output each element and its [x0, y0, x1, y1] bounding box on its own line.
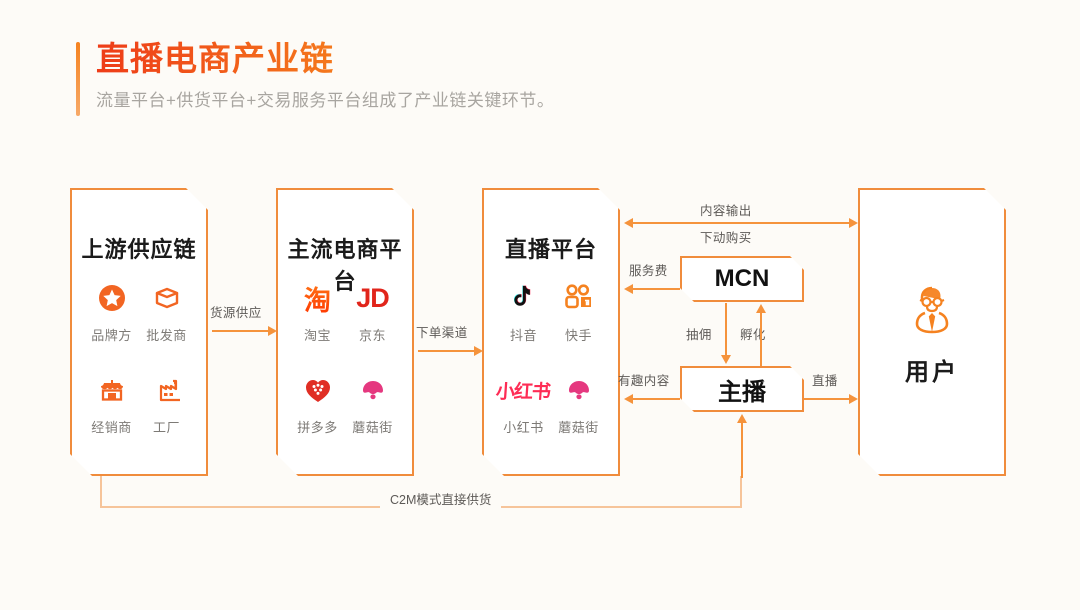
- douyin-note-logo: [509, 278, 539, 318]
- connector-line-order-channel: [418, 350, 476, 352]
- card-title: 上游供应链: [72, 232, 206, 264]
- taobao-logo-text: 淘: [304, 279, 331, 318]
- item-label: 品牌方: [91, 325, 132, 344]
- connector-label-interesting-content: 有趣内容: [618, 370, 670, 389]
- item-label: 蘑菇街: [352, 417, 393, 436]
- connector-line-interesting-content: [632, 398, 680, 400]
- item-kuaishou[interactable]: 快手: [551, 278, 606, 344]
- page-header: 直播电商产业链 流量平台+供货平台+交易服务平台组成了产业链关键环节。: [78, 38, 554, 111]
- mid-box-mcn[interactable]: MCN: [680, 256, 804, 302]
- item-label: 抖音: [510, 325, 537, 344]
- xiaohongshu-logo: 小红书: [496, 370, 550, 410]
- diagram-canvas: 直播电商产业链 流量平台+供货平台+交易服务平台组成了产业链关键环节。 上游供应…: [0, 0, 1080, 610]
- header-accent-bar: [76, 42, 80, 116]
- card-upstream-supply-chain[interactable]: 上游供应链 品牌方: [70, 188, 208, 476]
- arrow-right-icon: [849, 394, 858, 404]
- connector-label-live: 直播: [812, 370, 838, 389]
- kuaishou-camera-logo: [563, 278, 595, 318]
- item-label: 经销商: [91, 417, 132, 436]
- jd-logo: JD: [356, 278, 389, 318]
- card-title: 用户: [860, 352, 1004, 387]
- pinduoduo-logo: [303, 370, 333, 410]
- item-factory[interactable]: 工厂: [139, 370, 194, 436]
- connector-line-c2m-riser: [741, 420, 743, 478]
- page-subtitle: 流量平台+供货平台+交易服务平台组成了产业链关键环节。: [96, 86, 554, 111]
- card-body: 主流电商平台 淘 淘宝 JD 京东: [278, 190, 412, 474]
- connector-label-c2m: C2M模式直接供货: [380, 489, 501, 508]
- card-body: 用户: [860, 190, 1004, 474]
- card-body: 上游供应链 品牌方: [72, 190, 206, 474]
- connector-label-content-output: 内容输出: [700, 200, 752, 219]
- connector-label-supply: 货源供应: [210, 302, 262, 321]
- jd-logo-text: JD: [356, 283, 389, 314]
- item-xiaohongshu[interactable]: 小红书 小红书: [496, 370, 551, 436]
- card-body: 直播平台 抖音: [484, 190, 618, 474]
- item-brand[interactable]: 品牌方: [84, 278, 139, 344]
- user-avatar-icon: [860, 282, 1004, 340]
- item-label: 蘑菇街: [558, 417, 599, 436]
- connector-line-commission: [725, 303, 727, 357]
- arrow-left-icon: [624, 284, 633, 294]
- item-label: 小红书: [503, 417, 544, 436]
- item-label: 工厂: [153, 417, 180, 436]
- card-live-streaming-platform[interactable]: 直播平台 抖音: [482, 188, 620, 476]
- item-distributor[interactable]: 经销商: [84, 370, 139, 436]
- item-taobao[interactable]: 淘 淘宝: [290, 278, 345, 344]
- arrow-left-icon: [624, 394, 633, 404]
- connector-label-commission: 抽佣: [686, 324, 712, 343]
- connector-label-order-channel: 下单渠道: [416, 322, 468, 341]
- mid-box-anchor[interactable]: 主播: [680, 366, 804, 412]
- item-label: 京东: [359, 325, 386, 344]
- arrow-left-icon: [624, 218, 633, 228]
- mid-box-label: MCN: [715, 265, 770, 293]
- card-item-grid: 淘 淘宝 JD 京东: [290, 278, 400, 436]
- mogujie-mushroom-logo: [564, 370, 594, 410]
- taobao-logo: 淘: [304, 278, 331, 318]
- connector-label-purchase: 下动购买: [700, 227, 752, 246]
- card-item-grid: 抖音 快手: [496, 278, 606, 436]
- connector-line-live: [804, 398, 852, 400]
- item-douyin[interactable]: 抖音: [496, 278, 551, 344]
- arrow-up-icon: [756, 304, 766, 313]
- card-item-grid: 品牌方 批发商: [84, 278, 194, 436]
- arrow-right-icon: [268, 326, 277, 336]
- mid-box-label: 主播: [718, 372, 766, 407]
- open-box-icon: [152, 278, 182, 318]
- connector-line-incubation: [760, 312, 762, 366]
- connector-line-supply: [212, 330, 270, 332]
- arrow-right-icon: [849, 218, 858, 228]
- item-jd[interactable]: JD 京东: [345, 278, 400, 344]
- factory-icon: [152, 370, 182, 410]
- card-title: 直播平台: [484, 232, 618, 264]
- mogujie-mushroom-logo: [358, 370, 388, 410]
- connector-line-live-user: [632, 222, 852, 224]
- card-mainstream-ecommerce-platform[interactable]: 主流电商平台 淘 淘宝 JD 京东: [276, 188, 414, 476]
- xiaohongshu-logo-text: 小红书: [496, 377, 552, 404]
- item-mogujie[interactable]: 蘑菇街: [345, 370, 400, 436]
- brand-star-icon: [97, 278, 127, 318]
- item-mogujie[interactable]: 蘑菇街: [551, 370, 606, 436]
- item-wholesaler[interactable]: 批发商: [139, 278, 194, 344]
- connector-label-service-fee: 服务费: [629, 260, 668, 279]
- item-label: 拼多多: [297, 417, 338, 436]
- item-label: 淘宝: [304, 325, 331, 344]
- arrow-down-icon: [721, 355, 731, 364]
- page-title: 直播电商产业链: [96, 38, 554, 79]
- arrow-right-icon: [474, 346, 483, 356]
- item-pinduoduo[interactable]: 拼多多: [290, 370, 345, 436]
- item-label: 批发商: [146, 325, 187, 344]
- item-label: 快手: [565, 325, 592, 344]
- storefront-icon: [97, 370, 127, 410]
- card-user[interactable]: 用户: [858, 188, 1006, 476]
- connector-line-service-fee: [632, 288, 680, 290]
